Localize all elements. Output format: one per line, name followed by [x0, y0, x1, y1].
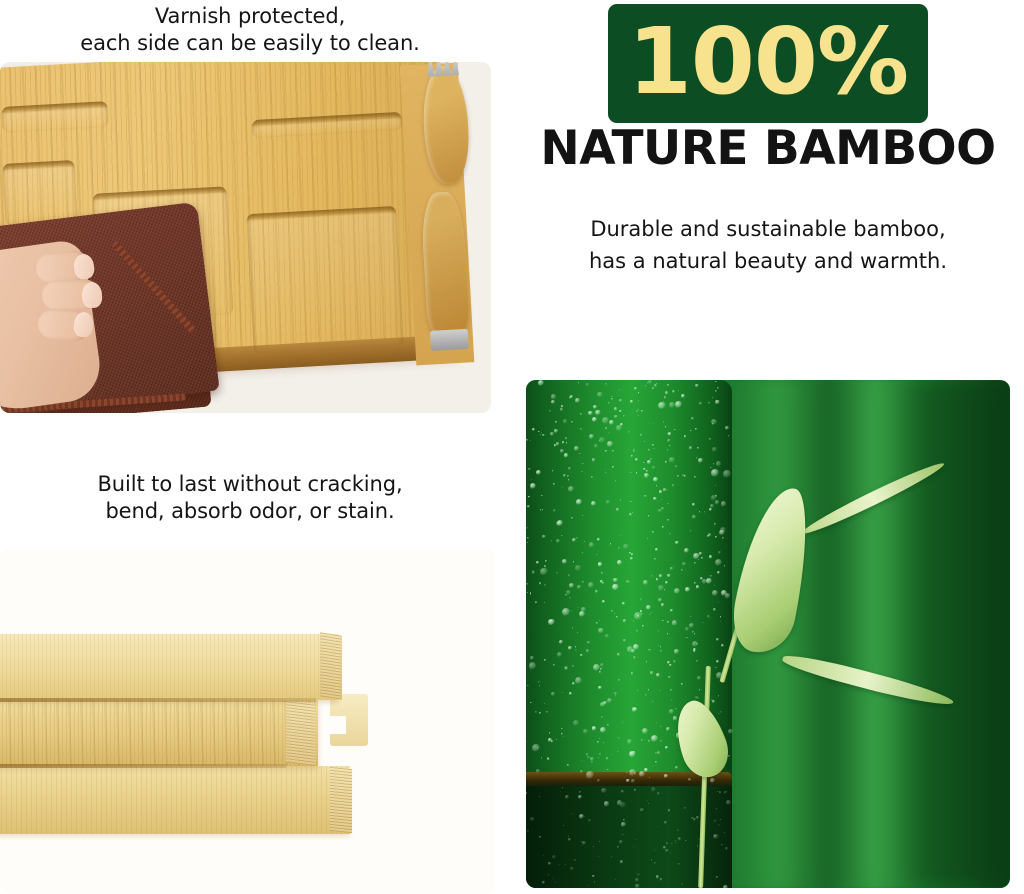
plank-face-middle	[0, 700, 318, 766]
plank-shadow-lower	[0, 764, 286, 768]
board-compartment-right	[246, 206, 404, 354]
plank-end-grain-top	[320, 632, 342, 699]
caption-built-to-last: Built to last without cracking, bend, ab…	[0, 471, 500, 526]
subtext-durable-sustainable: Durable and sustainable bamboo, has a na…	[512, 214, 1024, 278]
badge-100-percent-label: 100%	[628, 16, 908, 108]
photo-bamboo-planks	[0, 548, 495, 894]
headline-nature-bamboo: NATURE BAMBOO	[512, 124, 1024, 173]
bamboo-plank-bottom	[0, 766, 350, 834]
plank-face-bottom	[0, 766, 350, 834]
bamboo-plank-middle	[0, 700, 318, 766]
plank-end-grain-bottom	[330, 767, 352, 833]
board-groove-small	[2, 160, 77, 226]
plank-shadow-upper	[0, 698, 316, 702]
badge-100-percent: 100%	[608, 4, 928, 123]
bamboo-plank-top	[0, 634, 338, 700]
infographic-page: Varnish protected, each side can be easi…	[0, 0, 1024, 894]
caption-varnish-protected: Varnish protected, each side can be easi…	[0, 3, 500, 58]
fingernail-ring	[73, 311, 94, 337]
fingernail-middle	[82, 282, 103, 309]
plank-end-grain-middle	[286, 700, 316, 766]
photo-board-cleaning	[0, 62, 491, 413]
photo-bamboo-plant	[526, 380, 1010, 888]
plank-tab-notch	[330, 716, 346, 734]
plank-face-top	[0, 634, 338, 700]
